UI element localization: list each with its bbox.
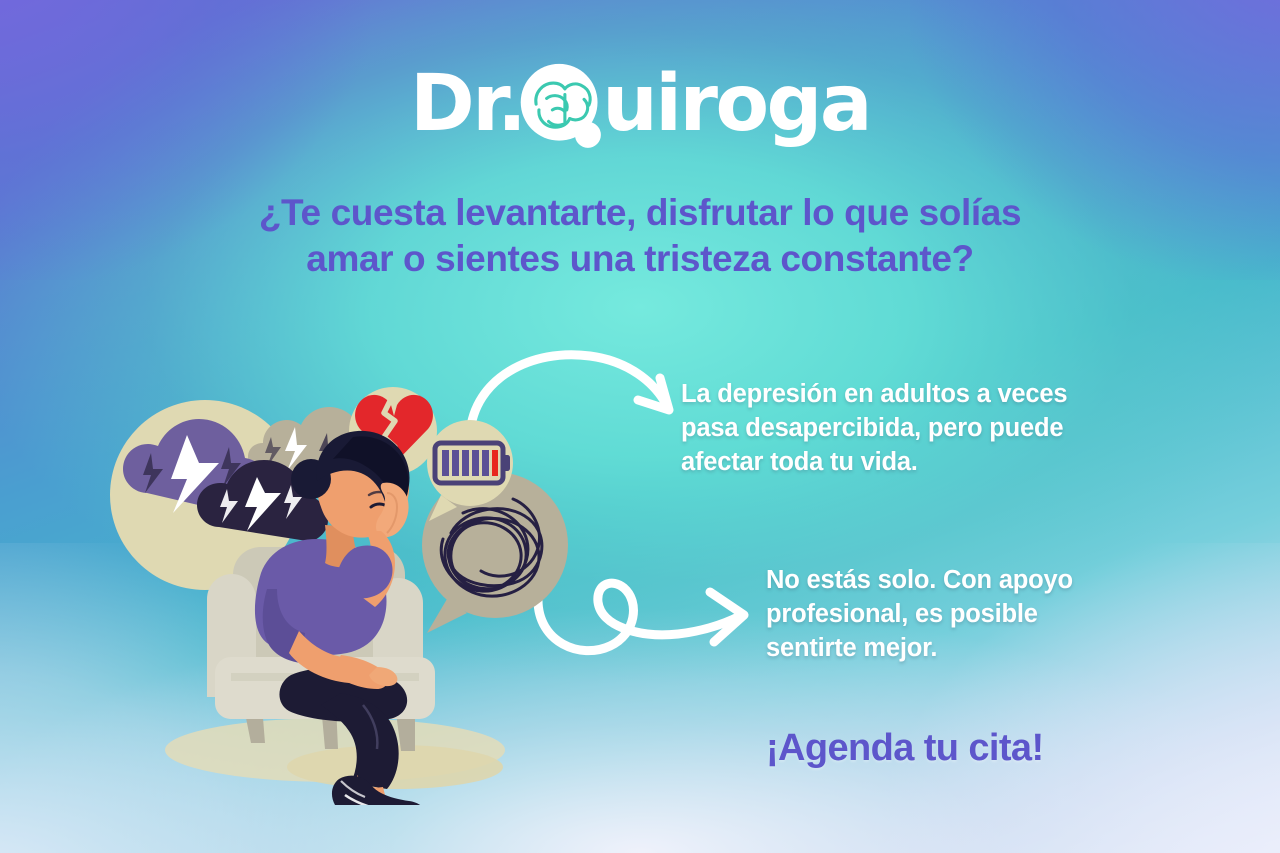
headline-line-1: ¿Te cuesta levantarte, disfrutar lo que … [200,190,1080,236]
message-2-line-3: sentirte mejor. [766,632,1166,666]
message-block-depression: La depresión en adultos a veces pasa des… [681,378,1149,480]
brain-icon [514,60,610,156]
logo-text-suffix: uiroga [602,65,870,143]
logo-text-prefix: Dr. [410,65,524,143]
cta-text[interactable]: ¡Agenda tu cita! [766,727,1044,770]
message-2-line-1: No estás solo. Con apoyo [766,564,1166,598]
message-1-line-1: La depresión en adultos a veces [681,378,1149,412]
poster-canvas: Dr. uiroga ¿Te cuesta levantarte, disfru… [0,0,1280,853]
headline-line-2: amar o sientes una tristeza constante? [200,236,1080,282]
headline: ¿Te cuesta levantarte, disfrutar lo que … [200,190,1080,282]
message-1-line-3: afectar toda tu vida. [681,446,1149,480]
message-1-line-2: pasa desapercibida, pero puede [681,412,1149,446]
brand-logo: Dr. uiroga [0,52,1280,156]
message-2-line-2: profesional, es posible [766,598,1166,632]
depression-illustration [95,375,615,805]
message-block-support: No estás solo. Con apoyo profesional, es… [766,564,1166,666]
